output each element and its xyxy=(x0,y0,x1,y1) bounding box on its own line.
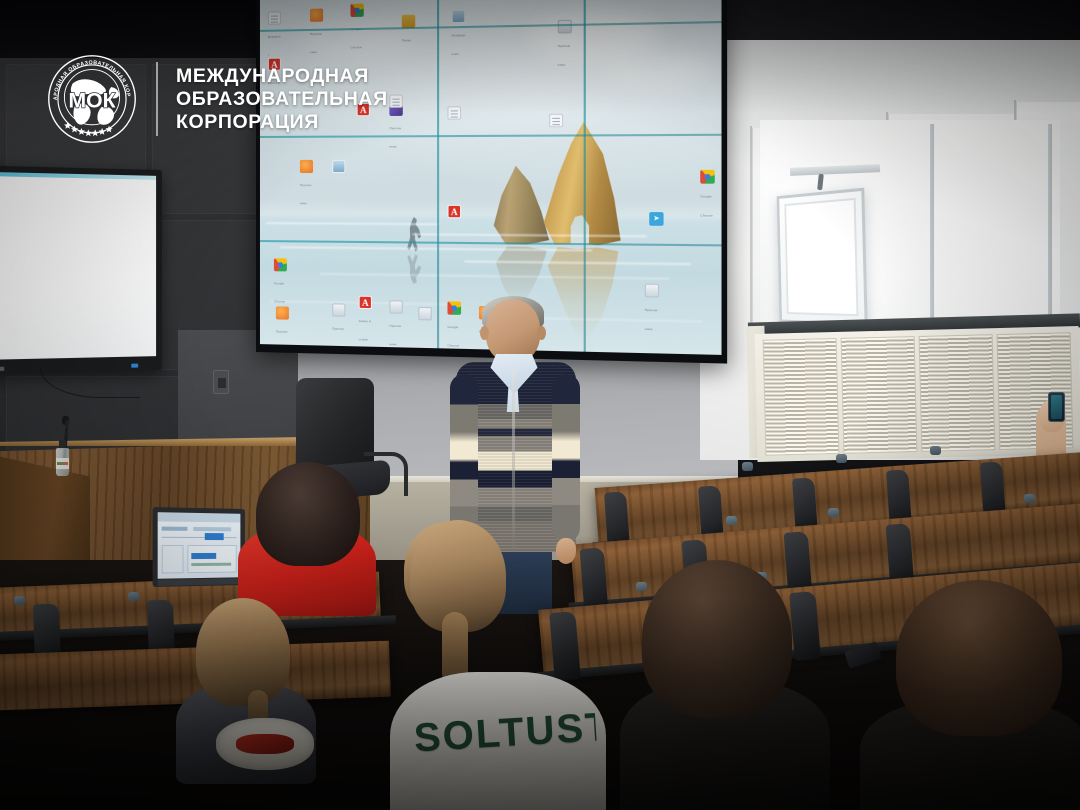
student-red-blazer-hair xyxy=(256,462,360,566)
brand-title-line-3: КОРПОРАЦИЯ xyxy=(176,111,388,134)
document-icon xyxy=(268,11,281,24)
whiteboard-screen[interactable] xyxy=(0,172,156,360)
video-wall-bezel-v2 xyxy=(584,0,586,352)
speaker-ear-left xyxy=(480,326,489,340)
speaker-ear-right xyxy=(537,326,546,340)
laptop-screen xyxy=(158,512,241,579)
pdf-icon xyxy=(447,205,461,218)
chrome-icon xyxy=(351,4,364,17)
armrest-cap xyxy=(836,454,847,463)
bag-contents xyxy=(236,734,294,754)
hoodie-print: SOLTUSTI xyxy=(413,702,598,765)
desktop-icon-chrome-b[interactable]: Google Chrome xyxy=(700,170,715,222)
video-wall-bezel-v1 xyxy=(437,0,439,348)
armrest-cap xyxy=(14,596,25,605)
armrest-cap xyxy=(930,446,941,455)
student-curly-far-right-hair xyxy=(896,580,1062,736)
armrest-cap xyxy=(828,508,839,517)
student-red-blazer xyxy=(232,462,382,602)
desktop-icon-generic-b[interactable]: Приложение xyxy=(389,300,402,350)
desktop-icon-doc-c[interactable] xyxy=(447,106,461,119)
brand-title-line-2: ОБРАЗОВАТЕЛЬНАЯ xyxy=(176,88,388,111)
student-curly-right-hair xyxy=(642,560,792,718)
desktop-icon-folder-a[interactable]: Папка xyxy=(402,15,415,47)
water-bottle-icon[interactable] xyxy=(56,440,69,476)
speaker-arm-left xyxy=(450,374,478,544)
app-icon xyxy=(389,300,402,313)
chrome-icon xyxy=(700,170,715,184)
speaker-head xyxy=(486,300,540,362)
armrest-cap xyxy=(128,592,139,601)
window-glass xyxy=(784,198,858,316)
desktop-icon-generic-d[interactable]: Приложение xyxy=(645,284,659,336)
brand-divider xyxy=(156,62,158,136)
wallpaper-runner-reflection xyxy=(406,254,423,285)
interactive-whiteboard[interactable] xyxy=(0,165,162,374)
seal-monogram: МОК xyxy=(69,89,116,112)
mok-seal-logo: МОК МЕЖДУНАРОДНАЯ ОБРАЗОВАТЕЛЬНАЯ КОРПОР… xyxy=(46,53,138,145)
desktop-icon-app-c[interactable]: Приложение xyxy=(300,160,313,209)
video-wall-bezel-h3 xyxy=(260,240,722,246)
app-icon xyxy=(276,306,289,319)
image-icon xyxy=(332,160,345,173)
desktop-icon-generic-c[interactable] xyxy=(418,307,432,321)
tilt-window[interactable] xyxy=(777,188,868,326)
wall-outlet-plate[interactable] xyxy=(213,370,229,394)
desktop-icon-pdf-c[interactable] xyxy=(447,205,461,218)
armrest-cap xyxy=(726,516,737,525)
document-icon xyxy=(389,94,402,107)
window-mullion-1 xyxy=(930,124,934,324)
whiteboard-brand-badge xyxy=(0,367,4,371)
app-icon xyxy=(310,9,323,22)
app-icon xyxy=(332,303,345,316)
desktop-icon-pdf-d[interactable]: Adobe Acrobat xyxy=(359,296,372,346)
telegram-icon xyxy=(649,212,663,226)
desktop-icon-app-b[interactable]: Приложение xyxy=(558,20,572,71)
desktop-icon-image-b[interactable] xyxy=(332,160,345,173)
desktop-icon-telegram[interactable] xyxy=(649,212,663,226)
brand-title-line-1: МЕЖДУНАРОДНАЯ xyxy=(176,65,388,88)
student-braid-hair xyxy=(196,598,290,706)
app-icon xyxy=(418,307,432,321)
desktop-icon-doc-b[interactable] xyxy=(389,94,402,107)
brand-title: МЕЖДУНАРОДНАЯ ОБРАЗОВАТЕЛЬНАЯ КОРПОРАЦИЯ xyxy=(176,65,388,134)
screenshot-root: Документ Приложение Google Chrome Папка … xyxy=(0,0,1080,810)
app-icon xyxy=(645,284,659,298)
brand-lockup: МОК МЕЖДУНАРОДНАЯ ОБРАЗОВАТЕЛЬНАЯ КОРПОР… xyxy=(46,48,388,150)
app-icon xyxy=(558,20,572,34)
chair-backrest xyxy=(296,378,374,468)
student-curly-right xyxy=(620,560,830,810)
image-icon xyxy=(452,9,466,23)
window-mullion-2 xyxy=(1048,124,1052,324)
radiator-cover xyxy=(754,326,1080,462)
document-icon xyxy=(447,106,461,119)
app-icon xyxy=(300,160,313,173)
desktop-icon-generic-a[interactable]: Приложение xyxy=(332,303,345,353)
document-icon xyxy=(549,114,563,128)
smartphone-screen xyxy=(1051,395,1062,419)
desktop-icon-image-a[interactable]: Изображение xyxy=(452,9,466,60)
student-hoodie: SOLTUSTI xyxy=(372,520,622,810)
desktop-icon-purple[interactable]: Приложение xyxy=(389,103,402,153)
desktop-icon-doc-d[interactable] xyxy=(549,114,563,128)
speaker-arm-right xyxy=(552,374,580,542)
armrest-cap xyxy=(742,462,753,471)
armrest-cap xyxy=(1024,494,1035,503)
smartphone-icon[interactable] xyxy=(1048,392,1065,422)
chrome-icon xyxy=(274,258,287,271)
desktop-icon-chrome-c[interactable]: Google Chrome xyxy=(274,258,287,307)
pdf-icon xyxy=(359,296,372,309)
tote-bag[interactable] xyxy=(216,718,314,770)
desktop-icon-app-d[interactable]: Приложение xyxy=(276,306,289,355)
student-curly-far-right xyxy=(860,580,1080,810)
